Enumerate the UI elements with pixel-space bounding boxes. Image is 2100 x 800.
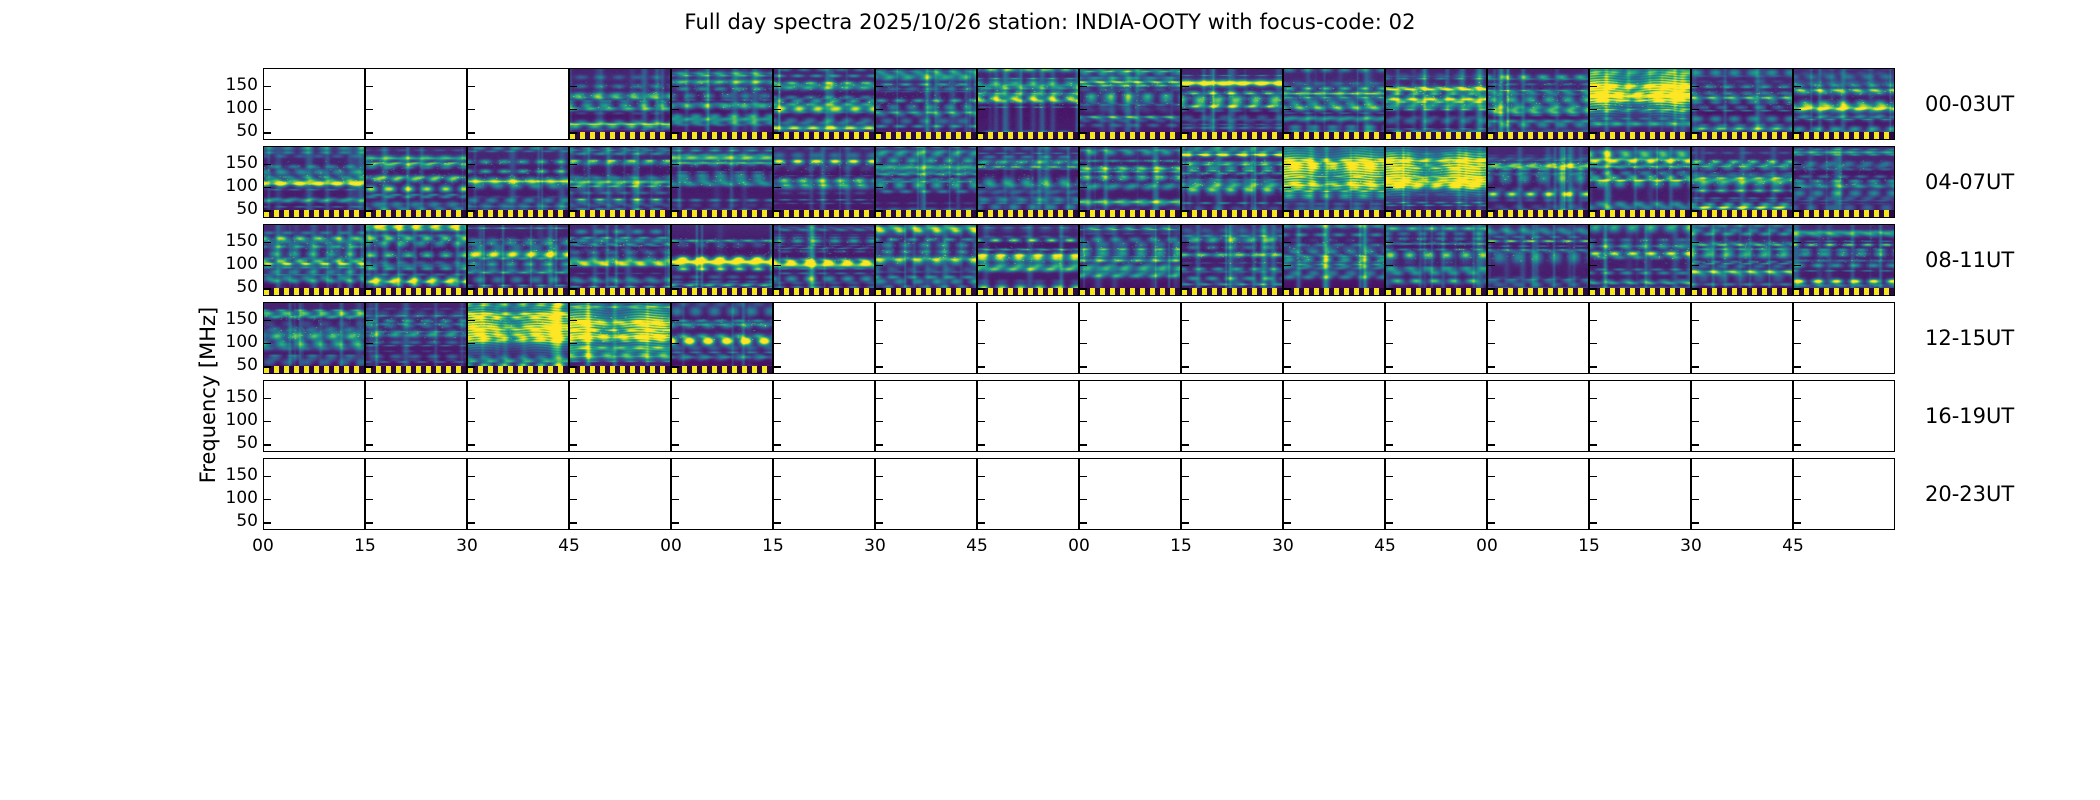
spectrogram-image bbox=[672, 69, 772, 139]
y-tick-mark bbox=[774, 164, 781, 165]
spectrogram-image bbox=[1590, 225, 1690, 295]
spectrogram-panel bbox=[671, 68, 773, 140]
y-tick-mark bbox=[774, 444, 781, 445]
y-tick-mark bbox=[876, 132, 883, 133]
y-tick-mark bbox=[876, 109, 883, 110]
y-tick-mark bbox=[468, 109, 475, 110]
row-label-04-07ut: 04-07UT bbox=[1925, 170, 2014, 194]
y-tick-mark bbox=[1488, 499, 1495, 500]
y-tick-label: 50 bbox=[188, 511, 258, 531]
data-present-marker bbox=[1692, 288, 1792, 295]
x-tick-mark bbox=[1589, 523, 1590, 530]
y-tick-mark bbox=[1182, 86, 1189, 87]
y-tick-mark bbox=[672, 187, 679, 188]
data-present-marker bbox=[1794, 210, 1894, 217]
y-tick-mark bbox=[1284, 444, 1291, 445]
spectrogram-panel bbox=[467, 146, 569, 218]
y-tick-label: 50 bbox=[188, 355, 258, 375]
y-tick-mark bbox=[876, 398, 883, 399]
data-present-marker bbox=[366, 366, 466, 373]
y-tick-mark bbox=[1284, 398, 1291, 399]
y-tick-mark bbox=[1080, 242, 1087, 243]
y-tick-mark bbox=[1386, 343, 1393, 344]
y-tick-mark bbox=[570, 522, 577, 523]
y-tick-mark bbox=[774, 476, 781, 477]
y-tick-mark bbox=[672, 109, 679, 110]
y-tick-mark bbox=[264, 343, 271, 344]
spectrogram-panel bbox=[569, 224, 671, 296]
y-tick-mark bbox=[1692, 499, 1699, 500]
y-tick-mark bbox=[876, 242, 883, 243]
y-tick-mark bbox=[1488, 288, 1495, 289]
data-present-marker bbox=[1284, 132, 1384, 139]
y-tick-mark bbox=[1488, 320, 1495, 321]
y-tick-mark bbox=[468, 499, 475, 500]
y-tick-mark bbox=[978, 476, 985, 477]
y-tick-mark bbox=[1386, 444, 1393, 445]
y-tick-mark bbox=[1386, 366, 1393, 367]
spectrogram-panel bbox=[263, 68, 365, 140]
y-tick-mark bbox=[366, 444, 373, 445]
y-tick-mark bbox=[366, 164, 373, 165]
spectrogram-image bbox=[1284, 69, 1384, 139]
y-tick-mark bbox=[1692, 522, 1699, 523]
x-tick-label: 45 bbox=[1374, 536, 1396, 556]
y-tick-mark bbox=[570, 242, 577, 243]
y-tick-mark bbox=[264, 109, 271, 110]
spectrogram-panel bbox=[671, 224, 773, 296]
y-tick-mark bbox=[774, 320, 781, 321]
y-tick-mark bbox=[1794, 109, 1801, 110]
y-tick-mark bbox=[1488, 109, 1495, 110]
y-tick-mark bbox=[570, 366, 577, 367]
spectrogram-panel bbox=[875, 68, 977, 140]
x-tick-mark bbox=[1283, 523, 1284, 530]
y-tick-mark bbox=[468, 210, 475, 211]
spectrogram-panel bbox=[1385, 224, 1487, 296]
y-tick-mark bbox=[978, 320, 985, 321]
y-tick-mark bbox=[1692, 164, 1699, 165]
data-present-marker bbox=[1080, 288, 1180, 295]
x-tick-label: 15 bbox=[762, 536, 784, 556]
y-tick-mark bbox=[1386, 320, 1393, 321]
y-tick-mark bbox=[1794, 288, 1801, 289]
y-tick-mark bbox=[1080, 343, 1087, 344]
y-tick-mark bbox=[366, 522, 373, 523]
spectrogram-panel bbox=[467, 224, 569, 296]
y-tick-mark bbox=[978, 444, 985, 445]
spectrogram-panel bbox=[365, 146, 467, 218]
y-tick-mark bbox=[774, 343, 781, 344]
y-tick-mark bbox=[672, 265, 679, 266]
y-tick-mark bbox=[468, 242, 475, 243]
x-tick-mark bbox=[1079, 523, 1080, 530]
spectrogram-image bbox=[1692, 147, 1792, 217]
spectrogram-panel bbox=[467, 68, 569, 140]
y-tick-mark bbox=[570, 288, 577, 289]
spectrogram-panel bbox=[365, 68, 467, 140]
data-present-marker bbox=[1182, 132, 1282, 139]
row-label-12-15ut: 12-15UT bbox=[1925, 326, 2014, 350]
spectrogram-panel bbox=[1079, 458, 1181, 530]
data-present-marker bbox=[1794, 132, 1894, 139]
y-tick-mark bbox=[264, 132, 271, 133]
y-tick-mark bbox=[264, 320, 271, 321]
y-tick-mark bbox=[1488, 421, 1495, 422]
y-tick-mark bbox=[1284, 242, 1291, 243]
y-tick-mark bbox=[1080, 444, 1087, 445]
x-tick-label: 30 bbox=[1680, 536, 1702, 556]
spectrogram-panel bbox=[1589, 302, 1691, 374]
data-present-marker bbox=[1386, 132, 1486, 139]
y-tick-mark bbox=[468, 343, 475, 344]
y-tick-mark bbox=[1692, 210, 1699, 211]
data-present-marker bbox=[774, 288, 874, 295]
y-tick-mark bbox=[1386, 164, 1393, 165]
y-tick-mark bbox=[1794, 421, 1801, 422]
y-tick-mark bbox=[1692, 187, 1699, 188]
spectrogram-panel bbox=[1079, 224, 1181, 296]
data-present-marker bbox=[978, 210, 1078, 217]
y-tick-mark bbox=[1692, 288, 1699, 289]
y-tick-mark bbox=[1692, 242, 1699, 243]
y-tick-mark bbox=[366, 265, 373, 266]
spectrogram-image bbox=[1080, 225, 1180, 295]
spectrogram-panel bbox=[1487, 380, 1589, 452]
y-tick-mark bbox=[1080, 86, 1087, 87]
y-tick-mark bbox=[1386, 499, 1393, 500]
spectrogram-image bbox=[672, 303, 772, 373]
y-tick-mark bbox=[672, 444, 679, 445]
spectrogram-panel bbox=[1589, 224, 1691, 296]
y-tick-mark bbox=[672, 421, 679, 422]
y-tick-label: 100 bbox=[188, 98, 258, 118]
y-tick-mark bbox=[1182, 499, 1189, 500]
y-tick-mark bbox=[570, 132, 577, 133]
spectrogram-panel bbox=[1691, 302, 1793, 374]
y-tick-mark bbox=[1488, 265, 1495, 266]
row-label-08-11ut: 08-11UT bbox=[1925, 248, 2014, 272]
y-tick-mark bbox=[1590, 398, 1597, 399]
spectrogram-panel bbox=[1691, 224, 1793, 296]
data-present-marker bbox=[264, 288, 364, 295]
spectrogram-image bbox=[1386, 147, 1486, 217]
y-tick-mark bbox=[468, 132, 475, 133]
spectrogram-panel bbox=[569, 302, 671, 374]
spectrogram-panel bbox=[773, 458, 875, 530]
y-tick-mark bbox=[264, 398, 271, 399]
y-tick-mark bbox=[1080, 522, 1087, 523]
spectrogram-panel bbox=[1793, 146, 1895, 218]
y-tick-mark bbox=[468, 444, 475, 445]
y-tick-mark bbox=[1590, 109, 1597, 110]
data-present-marker bbox=[672, 288, 772, 295]
spectrogram-panel bbox=[467, 380, 569, 452]
spectrogram-image bbox=[1182, 69, 1282, 139]
y-tick-mark bbox=[1182, 265, 1189, 266]
y-tick-mark bbox=[570, 265, 577, 266]
spectrogram-panel bbox=[1079, 302, 1181, 374]
spectrogram-image bbox=[1692, 69, 1792, 139]
spectrogram-panel bbox=[1793, 380, 1895, 452]
y-tick-mark bbox=[570, 476, 577, 477]
y-tick-mark bbox=[1590, 343, 1597, 344]
data-present-marker bbox=[1182, 210, 1282, 217]
y-tick-mark bbox=[1182, 242, 1189, 243]
spectrogram-panel bbox=[1487, 458, 1589, 530]
y-tick-mark bbox=[1794, 398, 1801, 399]
x-tick-label: 00 bbox=[1068, 536, 1090, 556]
y-tick-mark bbox=[876, 522, 883, 523]
spectrogram-image bbox=[1080, 69, 1180, 139]
spectrogram-image bbox=[1488, 69, 1588, 139]
data-present-marker bbox=[468, 210, 568, 217]
spectrogram-panel bbox=[977, 146, 1079, 218]
spectrogram-image bbox=[366, 147, 466, 217]
spectrogram-panel bbox=[1385, 146, 1487, 218]
y-tick-mark bbox=[570, 86, 577, 87]
y-tick-mark bbox=[1182, 109, 1189, 110]
y-tick-mark bbox=[774, 366, 781, 367]
x-tick-label: 15 bbox=[1170, 536, 1192, 556]
x-tick-label: 30 bbox=[1272, 536, 1294, 556]
y-tick-mark bbox=[1284, 366, 1291, 367]
y-tick-mark bbox=[978, 132, 985, 133]
y-tick-mark bbox=[1182, 132, 1189, 133]
y-tick-mark bbox=[876, 265, 883, 266]
x-tick-label: 30 bbox=[456, 536, 478, 556]
spectrogram-panel bbox=[569, 458, 671, 530]
y-tick-mark bbox=[1386, 398, 1393, 399]
y-tick-label: 150 bbox=[188, 387, 258, 407]
spectrogram-panel bbox=[977, 380, 1079, 452]
data-present-marker bbox=[774, 210, 874, 217]
y-tick-mark bbox=[1386, 288, 1393, 289]
spectrogram-panel bbox=[977, 458, 1079, 530]
x-tick-mark bbox=[671, 523, 672, 530]
y-tick-mark bbox=[1794, 366, 1801, 367]
spectrogram-image bbox=[1590, 147, 1690, 217]
y-tick-mark bbox=[570, 187, 577, 188]
x-tick-label: 15 bbox=[1578, 536, 1600, 556]
y-tick-label: 100 bbox=[188, 410, 258, 430]
spectrogram-panel bbox=[1181, 380, 1283, 452]
y-tick-mark bbox=[774, 421, 781, 422]
y-tick-mark bbox=[978, 210, 985, 211]
spectrogram-image bbox=[570, 225, 670, 295]
x-tick-mark bbox=[1793, 523, 1794, 530]
spectrogram-panel bbox=[1181, 146, 1283, 218]
spectrogram-panel bbox=[1079, 68, 1181, 140]
y-tick-mark bbox=[1386, 476, 1393, 477]
y-tick-mark bbox=[1182, 366, 1189, 367]
spectrogram-row-04-07ut: 15010050 bbox=[263, 146, 1895, 218]
x-tick-label: 15 bbox=[354, 536, 376, 556]
spectrogram-image bbox=[978, 147, 1078, 217]
data-present-marker bbox=[264, 366, 364, 373]
y-tick-mark bbox=[978, 187, 985, 188]
y-tick-label: 100 bbox=[188, 332, 258, 352]
y-tick-mark bbox=[1182, 444, 1189, 445]
y-tick-mark bbox=[468, 164, 475, 165]
data-present-marker bbox=[1590, 210, 1690, 217]
y-tick-mark bbox=[876, 210, 883, 211]
spectrogram-row-08-11ut: 15010050 bbox=[263, 224, 1895, 296]
y-tick-mark bbox=[1386, 86, 1393, 87]
y-tick-mark bbox=[1692, 132, 1699, 133]
spectrogram-panel bbox=[875, 302, 977, 374]
spectrogram-panel bbox=[1181, 458, 1283, 530]
y-tick-mark bbox=[1284, 164, 1291, 165]
y-tick-mark bbox=[1080, 398, 1087, 399]
y-tick-mark bbox=[1692, 366, 1699, 367]
spectrogram-panel bbox=[875, 458, 977, 530]
y-tick-mark bbox=[1182, 343, 1189, 344]
y-tick-mark bbox=[672, 288, 679, 289]
y-tick-mark bbox=[366, 366, 373, 367]
y-tick-mark bbox=[1794, 265, 1801, 266]
y-tick-mark bbox=[1488, 444, 1495, 445]
y-tick-mark bbox=[570, 421, 577, 422]
spectrogram-panel bbox=[1283, 146, 1385, 218]
y-tick-mark bbox=[1488, 398, 1495, 399]
y-tick-mark bbox=[1386, 187, 1393, 188]
y-tick-mark bbox=[366, 187, 373, 188]
y-tick-label: 50 bbox=[188, 433, 258, 453]
x-tick-mark bbox=[1385, 523, 1386, 530]
spectrogram-panel bbox=[875, 380, 977, 452]
spectrogram-image bbox=[468, 303, 568, 373]
y-tick-mark bbox=[1386, 265, 1393, 266]
y-tick-mark bbox=[1590, 242, 1597, 243]
y-tick-mark bbox=[1182, 187, 1189, 188]
data-present-marker bbox=[1590, 132, 1690, 139]
y-tick-mark bbox=[468, 476, 475, 477]
spectrogram-image bbox=[1590, 69, 1690, 139]
spectrogram-panel bbox=[569, 68, 671, 140]
y-tick-mark bbox=[1284, 499, 1291, 500]
y-tick-mark bbox=[468, 86, 475, 87]
y-tick-mark bbox=[978, 499, 985, 500]
y-tick-mark bbox=[876, 187, 883, 188]
spectrogram-panel bbox=[1691, 146, 1793, 218]
y-tick-mark bbox=[1080, 265, 1087, 266]
spectrogram-panel bbox=[977, 224, 1079, 296]
data-present-marker bbox=[876, 132, 976, 139]
spectrogram-panel bbox=[1793, 302, 1895, 374]
spectrogram-image bbox=[1794, 69, 1894, 139]
y-tick-mark bbox=[1692, 320, 1699, 321]
y-tick-mark bbox=[570, 164, 577, 165]
spectrogram-row-00-03ut: 15010050 bbox=[263, 68, 1895, 140]
y-tick-mark bbox=[978, 288, 985, 289]
spectrogram-image bbox=[570, 303, 670, 373]
data-present-marker bbox=[1692, 132, 1792, 139]
y-tick-mark bbox=[1692, 86, 1699, 87]
spectrogram-image bbox=[1692, 225, 1792, 295]
spectrogram-image bbox=[876, 225, 976, 295]
y-tick-mark bbox=[1590, 499, 1597, 500]
spectrogram-panel bbox=[263, 302, 365, 374]
y-tick-mark bbox=[1590, 522, 1597, 523]
y-tick-mark bbox=[1794, 210, 1801, 211]
y-tick-mark bbox=[1080, 164, 1087, 165]
spectrogram-panel bbox=[1793, 224, 1895, 296]
spectrogram-panel bbox=[263, 224, 365, 296]
y-tick-mark bbox=[366, 343, 373, 344]
y-tick-mark bbox=[1692, 343, 1699, 344]
spectrogram-image bbox=[1488, 147, 1588, 217]
y-tick-mark bbox=[1182, 164, 1189, 165]
spectrogram-panel bbox=[1487, 146, 1589, 218]
spectrogram-panel bbox=[1589, 458, 1691, 530]
spectrogram-panel bbox=[1385, 68, 1487, 140]
spectrogram-image bbox=[1182, 225, 1282, 295]
y-tick-mark bbox=[264, 476, 271, 477]
y-tick-mark bbox=[366, 109, 373, 110]
spectrogram-panel bbox=[1385, 458, 1487, 530]
y-tick-mark bbox=[570, 320, 577, 321]
y-tick-mark bbox=[1794, 320, 1801, 321]
y-tick-mark bbox=[1080, 187, 1087, 188]
spectrogram-row-16-19ut: 15010050 bbox=[263, 380, 1895, 452]
y-tick-mark bbox=[264, 288, 271, 289]
data-present-marker bbox=[1386, 288, 1486, 295]
y-tick-mark bbox=[1284, 109, 1291, 110]
y-tick-mark bbox=[672, 164, 679, 165]
spectrogram-image bbox=[774, 147, 874, 217]
y-tick-mark bbox=[1182, 398, 1189, 399]
y-tick-mark bbox=[1488, 522, 1495, 523]
spectrogram-panel bbox=[773, 302, 875, 374]
y-tick-mark bbox=[366, 499, 373, 500]
y-tick-mark bbox=[978, 421, 985, 422]
data-present-marker bbox=[264, 210, 364, 217]
y-tick-mark bbox=[672, 242, 679, 243]
y-tick-mark bbox=[1488, 343, 1495, 344]
y-tick-mark bbox=[672, 86, 679, 87]
spectrogram-panel bbox=[1283, 458, 1385, 530]
spectrogram-panel bbox=[263, 146, 365, 218]
y-tick-mark bbox=[1080, 476, 1087, 477]
data-present-marker bbox=[876, 210, 976, 217]
spectrogram-panel bbox=[467, 458, 569, 530]
y-tick-mark bbox=[468, 421, 475, 422]
spectrogram-image bbox=[1386, 225, 1486, 295]
data-present-marker bbox=[774, 132, 874, 139]
spectrogram-panel bbox=[1283, 302, 1385, 374]
x-tick-label: 45 bbox=[966, 536, 988, 556]
y-tick-mark bbox=[1488, 164, 1495, 165]
y-tick-mark bbox=[1284, 343, 1291, 344]
spectrogram-panel bbox=[1589, 68, 1691, 140]
spectrogram-panel bbox=[263, 380, 365, 452]
y-tick-mark bbox=[672, 343, 679, 344]
y-tick-mark bbox=[264, 366, 271, 367]
spectrogram-row-20-23ut: 15010050 bbox=[263, 458, 1895, 530]
spectrogram-image bbox=[774, 225, 874, 295]
y-tick-mark bbox=[672, 522, 679, 523]
x-tick-mark bbox=[875, 523, 876, 530]
spectrogram-image bbox=[876, 69, 976, 139]
y-tick-mark bbox=[264, 499, 271, 500]
y-tick-mark bbox=[672, 210, 679, 211]
y-tick-mark bbox=[1080, 421, 1087, 422]
y-tick-mark bbox=[876, 499, 883, 500]
y-tick-mark bbox=[1386, 132, 1393, 133]
spectrogram-panel bbox=[365, 224, 467, 296]
data-present-marker bbox=[468, 288, 568, 295]
